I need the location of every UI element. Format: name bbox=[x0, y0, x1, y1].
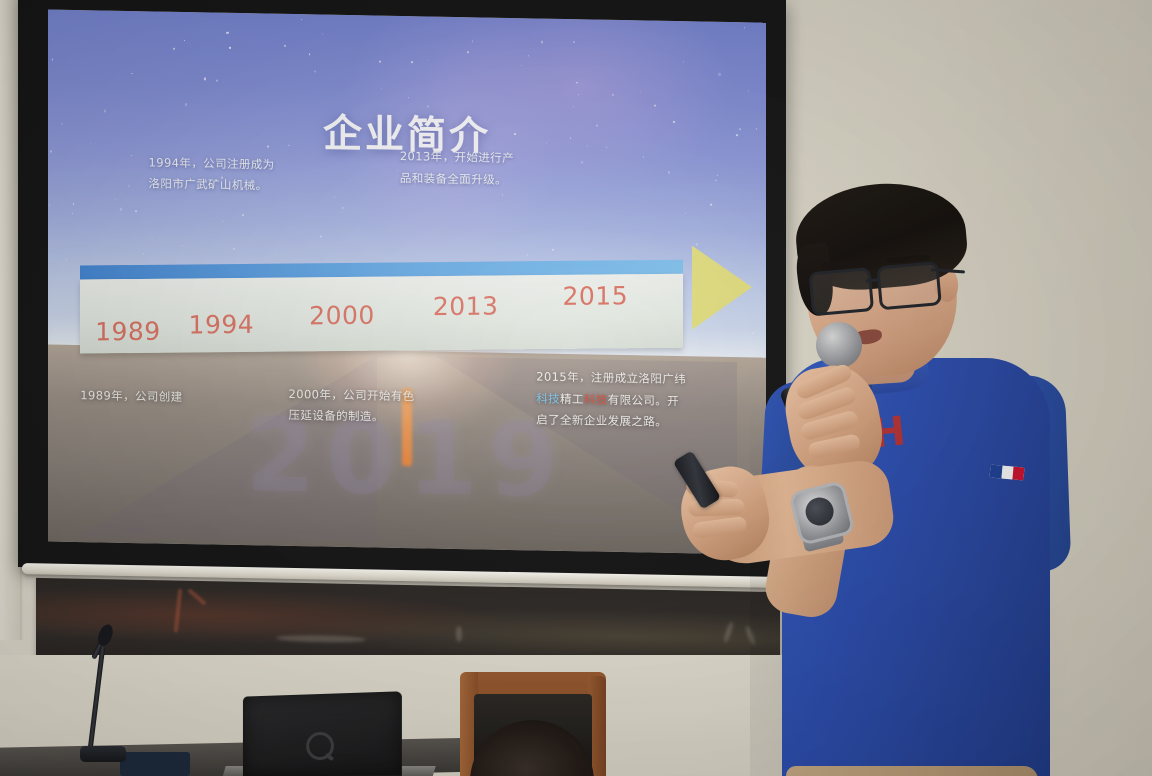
timeline-year-1989: 1989 bbox=[95, 317, 161, 347]
glasses-lens-left bbox=[809, 267, 875, 316]
projection-screen-frame: 2019 企业简介 1994年，公司注册成为 洛阳市广武矿山机械。 2013年，… bbox=[18, 0, 786, 581]
desk-object bbox=[120, 752, 190, 776]
microphone-base bbox=[80, 746, 126, 762]
note-1994: 1994年，公司注册成为 洛阳市广武矿山机械。 bbox=[149, 152, 275, 197]
projection-screen-surface: 2019 企业简介 1994年，公司注册成为 洛阳市广武矿山机械。 2013年，… bbox=[48, 10, 766, 555]
timeline-year-2013: 2013 bbox=[433, 291, 499, 321]
note-2015-line3: 启了全新企业发展之路。 bbox=[536, 409, 686, 433]
timeline-year-1994: 1994 bbox=[189, 311, 255, 341]
note-2013: 2013年，开始进行产 品和装备全面升级。 bbox=[400, 146, 514, 191]
note-2015-plain-a: 精工 bbox=[560, 392, 584, 406]
note-1994-line1: 1994年，公司注册成为 bbox=[149, 152, 275, 176]
note-2015-highlight-red: 科技 bbox=[584, 392, 608, 406]
timeline-bar: 1989 1994 2000 2013 2015 bbox=[80, 260, 683, 354]
laptop[interactable] bbox=[243, 691, 402, 776]
note-2015-line1: 2015年，注册成立洛阳广纬 bbox=[536, 367, 686, 391]
desk-microphone bbox=[84, 628, 114, 748]
note-2015-highlight-blue: 科技 bbox=[536, 391, 560, 405]
timeline-year-2000: 2000 bbox=[309, 301, 375, 331]
presenter-trousers bbox=[786, 766, 1038, 776]
microphone-gooseneck bbox=[88, 646, 106, 750]
note-2013-line1: 2013年，开始进行产 bbox=[400, 146, 514, 169]
note-1989-line1: 1989年，公司创建 bbox=[80, 385, 182, 408]
wristwatch-face bbox=[803, 495, 837, 529]
compaq-logo-icon bbox=[306, 732, 334, 760]
note-2000: 2000年，公司开始有色 压延设备的制造。 bbox=[289, 384, 415, 429]
note-2015: 2015年，注册成立洛阳广纬 科技精工科技有限公司。开 启了全新企业发展之路。 bbox=[536, 367, 686, 434]
note-2015-line2: 科技精工科技有限公司。开 bbox=[536, 388, 686, 412]
note-2013-line2: 品和装备全面升级。 bbox=[400, 168, 514, 191]
presentation-photo: 2019 企业简介 1994年，公司注册成为 洛阳市广武矿山机械。 2013年，… bbox=[0, 0, 1152, 776]
note-1994-line2: 洛阳市广武矿山机械。 bbox=[149, 174, 275, 198]
note-1989: 1989年，公司创建 bbox=[80, 385, 182, 408]
slide-content: 2019 企业简介 1994年，公司注册成为 洛阳市广武矿山机械。 2013年，… bbox=[48, 10, 766, 555]
presenter: H bbox=[690, 170, 1152, 776]
note-2000-line1: 2000年，公司开始有色 bbox=[289, 384, 415, 408]
note-2000-line2: 压延设备的制造。 bbox=[289, 405, 415, 429]
timeline-year-list: 1989 1994 2000 2013 2015 bbox=[80, 274, 683, 354]
handheld-microphone-head-icon bbox=[816, 322, 862, 368]
timeline-year-2015: 2015 bbox=[563, 282, 629, 312]
note-2015-plain-b: 有限公司。开 bbox=[608, 392, 679, 407]
